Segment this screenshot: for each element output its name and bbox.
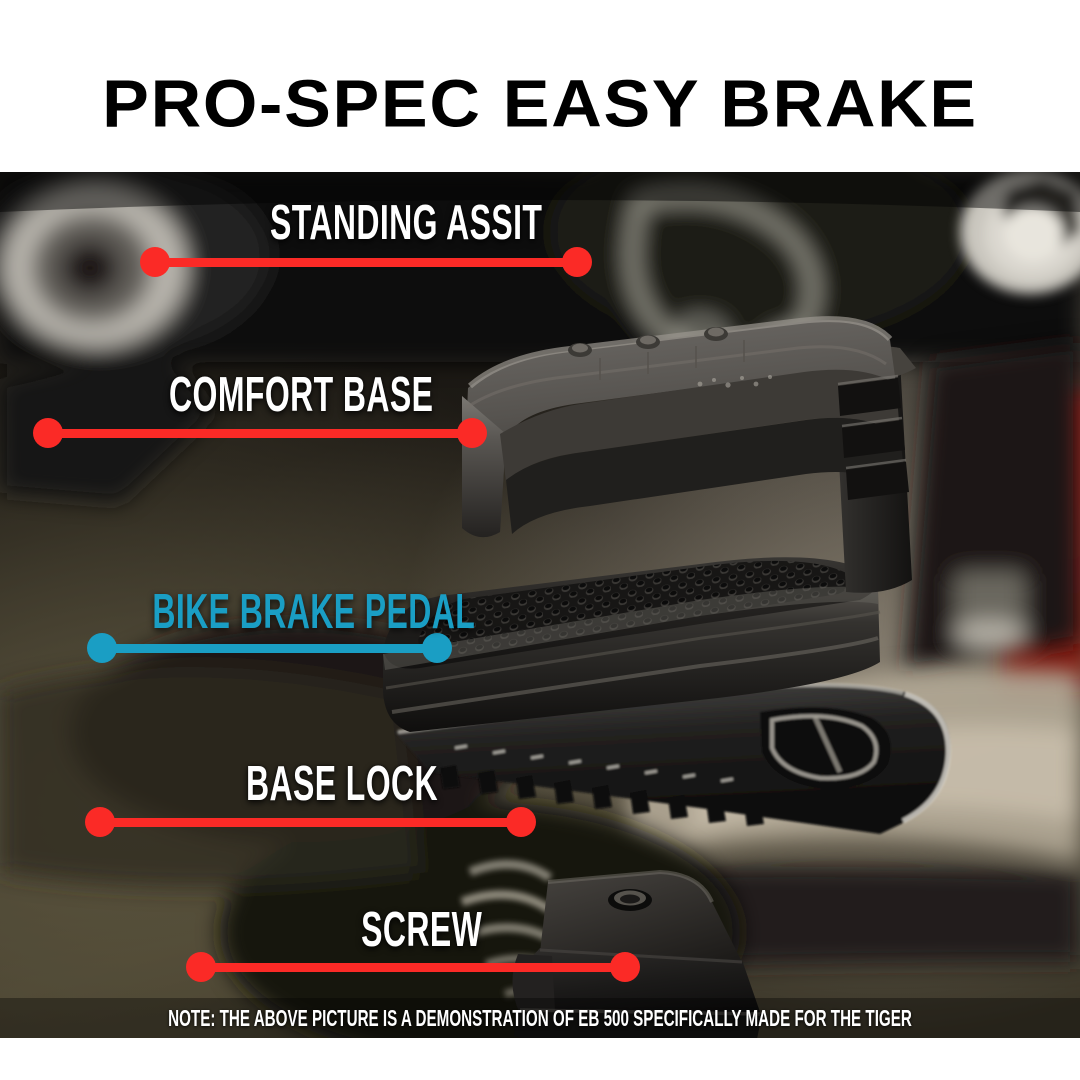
bottom-white-strip (0, 1038, 1080, 1080)
product-photo (0, 172, 1080, 1038)
infographic-canvas: PRO-SPEC EASY BRAKE (0, 0, 1080, 1080)
page-title: PRO-SPEC EASY BRAKE (0, 72, 1080, 138)
product-photo-artwork (0, 172, 1080, 1038)
title-bar: PRO-SPEC EASY BRAKE (0, 0, 1080, 172)
